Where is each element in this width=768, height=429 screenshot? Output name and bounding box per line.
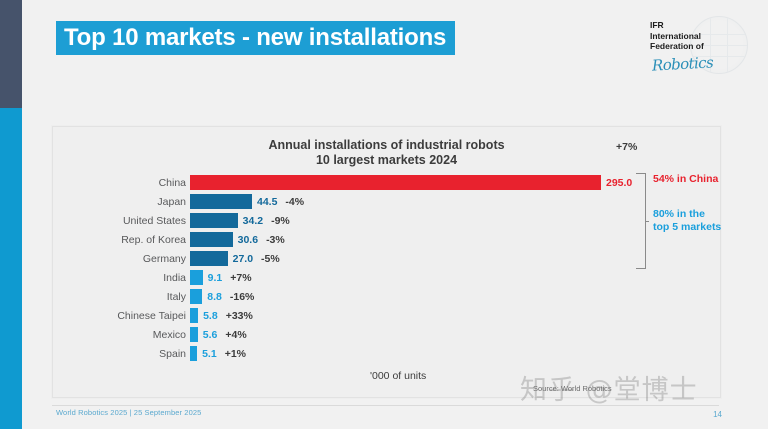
- bar-and-labels: 34.2-9%: [190, 213, 290, 228]
- bar-and-labels: 8.8-16%: [190, 289, 254, 304]
- bar-row: Italy8.8-16%: [53, 287, 720, 306]
- bar-category-label: Spain: [53, 348, 186, 360]
- bar-row: United States34.2-9%: [53, 211, 720, 230]
- chart-title-line2: 10 largest markets 2024: [53, 153, 720, 168]
- bar-change-label: -3%: [266, 234, 285, 246]
- ifr-logo: IFR International Federation of Robotics: [650, 14, 750, 78]
- bar: [190, 308, 198, 323]
- chart-panel: Annual installations of industrial robot…: [52, 126, 721, 398]
- bar-value-label: 30.6: [238, 234, 258, 246]
- page-number: 14: [713, 410, 722, 419]
- bar-row: Germany27.0-5%: [53, 249, 720, 268]
- logo-line-federation: Federation of: [650, 41, 704, 52]
- bar-row: Rep. of Korea30.6-3%: [53, 230, 720, 249]
- bar-category-label: Germany: [53, 253, 186, 265]
- bar-and-labels: 295.0: [190, 175, 632, 190]
- annotation-top5-line1: 80% in the: [653, 208, 721, 221]
- bar-value-label: 5.6: [203, 329, 218, 341]
- bar-change-label: +4%: [225, 329, 246, 341]
- bar-category-label: India: [53, 272, 186, 284]
- footer-caption: World Robotics 2025 | 25 September 2025: [56, 408, 201, 417]
- bar-and-labels: 5.6+4%: [190, 327, 247, 342]
- bar-change-label: +7%: [230, 272, 251, 284]
- bar-category-label: Italy: [53, 291, 186, 303]
- bar-category-label: United States: [53, 215, 186, 227]
- top5-bracket: [636, 173, 646, 269]
- annotation-china-share: 54% in China: [653, 173, 718, 186]
- bar-change-label: +33%: [226, 310, 253, 322]
- logo-line-international: International: [650, 31, 704, 42]
- logo-line-ifr: IFR: [650, 20, 704, 31]
- bar-row: India9.1+7%: [53, 268, 720, 287]
- bar: [190, 327, 198, 342]
- bar-change-label: -16%: [230, 291, 255, 303]
- bar-value-label: 27.0: [233, 253, 253, 265]
- bar: [190, 270, 203, 285]
- bar-chart-rows: China295.0Japan44.5-4%United States34.2-…: [53, 173, 720, 363]
- bar-value-label: 9.1: [208, 272, 223, 284]
- left-edge-blue-strip: [0, 108, 22, 429]
- bar-category-label: Japan: [53, 196, 186, 208]
- bar-and-labels: 5.1+1%: [190, 346, 246, 361]
- slide-canvas: Top 10 markets - new installations IFR I…: [0, 0, 768, 429]
- bar: [190, 194, 252, 209]
- bar-row: Japan44.5-4%: [53, 192, 720, 211]
- bar-change-label: -9%: [271, 215, 290, 227]
- page-title: Top 10 markets - new installations: [64, 26, 446, 50]
- bar-value-label: 5.8: [203, 310, 218, 322]
- bar: [190, 213, 238, 228]
- annotation-top5-line2: top 5 markets: [653, 221, 721, 234]
- bar-value-label: 5.1: [202, 348, 217, 360]
- slide-title-banner: Top 10 markets - new installations: [56, 21, 455, 55]
- bar-row: Spain5.1+1%: [53, 344, 720, 363]
- logo-script-robotics: Robotics: [652, 53, 714, 74]
- bar: [190, 289, 202, 304]
- bar-change-label: -4%: [285, 196, 304, 208]
- bar: [190, 175, 601, 190]
- source-label: Source: World Robotics: [533, 384, 612, 393]
- bar-row: Chinese Taipei5.8+33%: [53, 306, 720, 325]
- bar-row: Mexico5.6+4%: [53, 325, 720, 344]
- bar-change-label: +1%: [225, 348, 246, 360]
- annotation-top5-share: 80% in the top 5 markets: [653, 208, 721, 234]
- footer-divider: [52, 405, 719, 406]
- bar: [190, 251, 228, 266]
- bar-change-label: -5%: [261, 253, 280, 265]
- units-label: '000 of units: [370, 370, 426, 382]
- bar-category-label: Mexico: [53, 329, 186, 341]
- left-edge-dark-strip: [0, 0, 22, 108]
- bar: [190, 346, 197, 361]
- bar-and-labels: 27.0-5%: [190, 251, 280, 266]
- bar-and-labels: 30.6-3%: [190, 232, 285, 247]
- bar-value-label: 8.8: [207, 291, 222, 303]
- bar-category-label: Chinese Taipei: [53, 310, 186, 322]
- bar-row: China295.0: [53, 173, 720, 192]
- bracket-nub: [645, 221, 649, 222]
- bar-and-labels: 44.5-4%: [190, 194, 304, 209]
- bar-and-labels: 9.1+7%: [190, 270, 252, 285]
- china-change-label: +7%: [616, 141, 637, 153]
- bar-value-label: 295.0: [606, 177, 632, 189]
- bar-value-label: 44.5: [257, 196, 277, 208]
- bar-category-label: Rep. of Korea: [53, 234, 186, 246]
- bar-category-label: China: [53, 177, 186, 189]
- bar-and-labels: 5.8+33%: [190, 308, 253, 323]
- bar: [190, 232, 233, 247]
- logo-text-block: IFR International Federation of: [650, 20, 704, 52]
- bar-value-label: 34.2: [243, 215, 263, 227]
